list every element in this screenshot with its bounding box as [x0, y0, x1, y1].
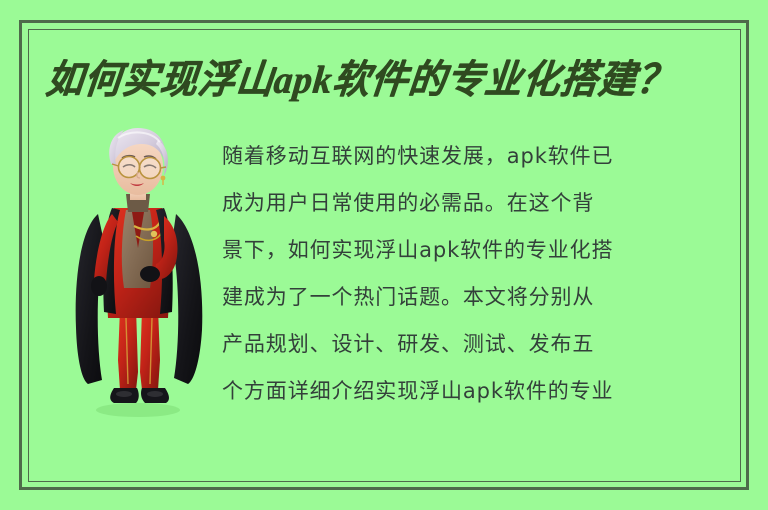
page-title: 如何实现浮山apk软件的专业化搭建？	[43, 55, 709, 108]
body-line: 建成为了一个热门话题。本文将分别从	[222, 274, 738, 321]
character-illustration-svg	[62, 122, 214, 418]
glasses-right-lens	[140, 158, 161, 179]
glasses-temple-right	[161, 167, 167, 168]
figure-ground-shadow	[96, 403, 180, 417]
gold-brooch	[151, 231, 157, 237]
body-line: 随着移动互联网的快速发展，apk软件已	[222, 133, 738, 180]
body-line: 景下，如何实现浮山apk软件的专业化搭	[222, 227, 738, 274]
body-line: 个方面详细介绍实现浮山apk软件的专业	[222, 368, 738, 415]
glove-left	[91, 276, 107, 296]
coat-left-panel	[76, 214, 104, 384]
article-body: 随着移动互联网的快速发展，apk软件已 成为用户日常使用的必需品。在这个背 景下…	[222, 133, 738, 415]
body-line: 成为用户日常使用的必需品。在这个背	[222, 180, 738, 227]
glasses-left-lens	[119, 157, 140, 178]
earring	[161, 176, 166, 181]
character-illustration	[62, 122, 214, 418]
glasses-bridge	[140, 167, 141, 168]
glove-right	[140, 266, 160, 282]
shoe-left-highlight	[116, 391, 132, 397]
poster-canvas: 如何实现浮山apk软件的专业化搭建？ 随着移动互联网的快速发展，apk软件已 成…	[0, 0, 768, 510]
body-line: 产品规划、设计、研发、测试、发布五	[222, 321, 738, 368]
shoe-right-highlight	[147, 391, 163, 397]
